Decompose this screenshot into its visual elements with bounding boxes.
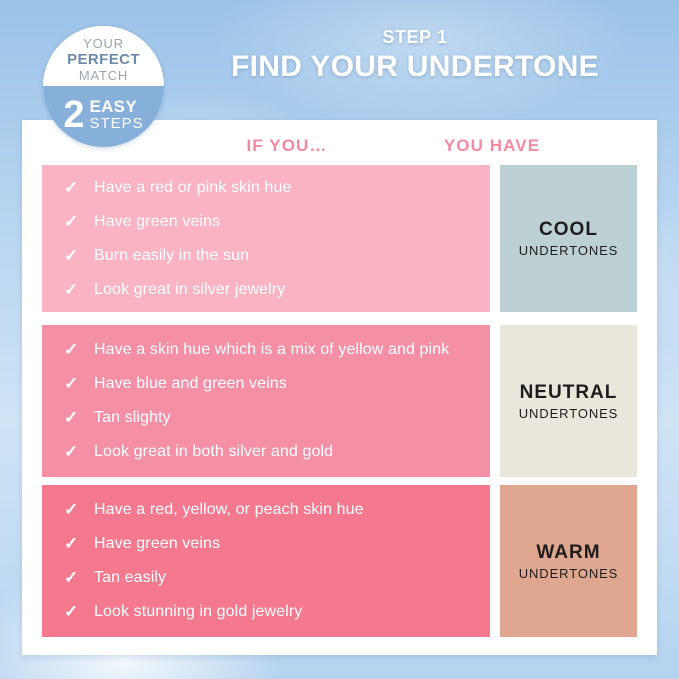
swatch-title: NEUTRAL xyxy=(520,381,618,404)
swatch-title: COOL xyxy=(539,218,598,241)
badge-line-your: YOUR xyxy=(83,36,124,51)
swatch-subtitle: UNDERTONES xyxy=(519,242,619,259)
criteria-text: Look great in both silver and gold xyxy=(90,440,333,463)
criteria-text: Have a red, yellow, or peach skin hue xyxy=(90,498,364,521)
table-row: ✓ Have a skin hue which is a mix of yell… xyxy=(42,325,637,477)
undertone-swatch-neutral: NEUTRAL UNDERTONES xyxy=(500,325,637,477)
check-icon: ✓ xyxy=(64,338,90,362)
badge-line-easy: EASY xyxy=(89,98,143,115)
swatch-subtitle: UNDERTONES xyxy=(519,565,619,582)
criteria-text: Have a red or pink skin hue xyxy=(90,176,291,199)
list-item: ✓ Look stunning in gold jewelry xyxy=(64,600,474,624)
badge-bottom-half: 2 EASY STEPS xyxy=(43,86,164,147)
check-icon: ✓ xyxy=(64,600,90,624)
criteria-text: Look great in silver jewelry xyxy=(90,278,285,301)
check-icon: ✓ xyxy=(64,278,90,302)
check-icon: ✓ xyxy=(64,406,90,430)
badge-top-half: YOUR PERFECT MATCH xyxy=(43,26,164,86)
list-item: ✓ Have green veins xyxy=(64,532,474,556)
list-item: ✓ Have blue and green veins xyxy=(64,372,474,396)
infographic-canvas: STEP 1 FIND YOUR UNDERTONE YOUR PERFECT … xyxy=(0,0,679,679)
criteria-text: Have green veins xyxy=(90,532,220,555)
check-icon: ✓ xyxy=(64,176,90,200)
column-header-you-have: YOU HAVE xyxy=(372,136,612,156)
badge-line-steps: STEPS xyxy=(89,115,143,132)
check-icon: ✓ xyxy=(64,210,90,234)
undertone-swatch-cool: COOL UNDERTONES xyxy=(500,165,637,312)
check-icon: ✓ xyxy=(64,498,90,522)
table-row: ✓ Have a red or pink skin hue ✓ Have gre… xyxy=(42,165,637,312)
step-label: STEP 1 xyxy=(180,26,650,48)
list-item: ✓ Look great in both silver and gold xyxy=(64,440,474,464)
criteria-text: Burn easily in the sun xyxy=(90,244,249,267)
list-item: ✓ Tan slighty xyxy=(64,406,474,430)
criteria-text: Have green veins xyxy=(90,210,220,233)
criteria-panel-warm: ✓ Have a red, yellow, or peach skin hue … xyxy=(42,485,490,637)
header: STEP 1 FIND YOUR UNDERTONE xyxy=(180,26,650,85)
list-item: ✓ Have green veins xyxy=(64,210,474,234)
table-row: ✓ Have a red, yellow, or peach skin hue … xyxy=(42,485,637,637)
swatch-title: WARM xyxy=(536,541,600,564)
list-item: ✓ Have a skin hue which is a mix of yell… xyxy=(64,338,474,362)
perfect-match-badge: YOUR PERFECT MATCH 2 EASY STEPS xyxy=(43,26,164,147)
criteria-text: Tan slighty xyxy=(90,406,171,429)
criteria-text: Look stunning in gold jewelry xyxy=(90,600,302,623)
swatch-subtitle: UNDERTONES xyxy=(519,405,619,422)
criteria-text: Have blue and green veins xyxy=(90,372,287,395)
list-item: ✓ Burn easily in the sun xyxy=(64,244,474,268)
criteria-panel-neutral: ✓ Have a skin hue which is a mix of yell… xyxy=(42,325,490,477)
check-icon: ✓ xyxy=(64,372,90,396)
badge-line-perfect: PERFECT xyxy=(67,51,140,68)
criteria-panel-cool: ✓ Have a red or pink skin hue ✓ Have gre… xyxy=(42,165,490,312)
list-item: ✓ Tan easily xyxy=(64,566,474,590)
badge-steps-text: EASY STEPS xyxy=(89,98,143,132)
content-card: IF YOU… YOU HAVE ✓ Have a red or pink sk… xyxy=(22,120,657,655)
undertone-swatch-warm: WARM UNDERTONES xyxy=(500,485,637,637)
check-icon: ✓ xyxy=(64,244,90,268)
page-title: FIND YOUR UNDERTONE xyxy=(180,49,650,85)
badge-line-match: MATCH xyxy=(79,68,128,83)
check-icon: ✓ xyxy=(64,440,90,464)
check-icon: ✓ xyxy=(64,532,90,556)
criteria-text: Tan easily xyxy=(90,566,166,589)
criteria-text: Have a skin hue which is a mix of yellow… xyxy=(90,338,449,361)
list-item: ✓ Look great in silver jewelry xyxy=(64,278,474,302)
check-icon: ✓ xyxy=(64,566,90,590)
list-item: ✓ Have a red or pink skin hue xyxy=(64,176,474,200)
badge-step-count: 2 xyxy=(63,96,84,134)
list-item: ✓ Have a red, yellow, or peach skin hue xyxy=(64,498,474,522)
